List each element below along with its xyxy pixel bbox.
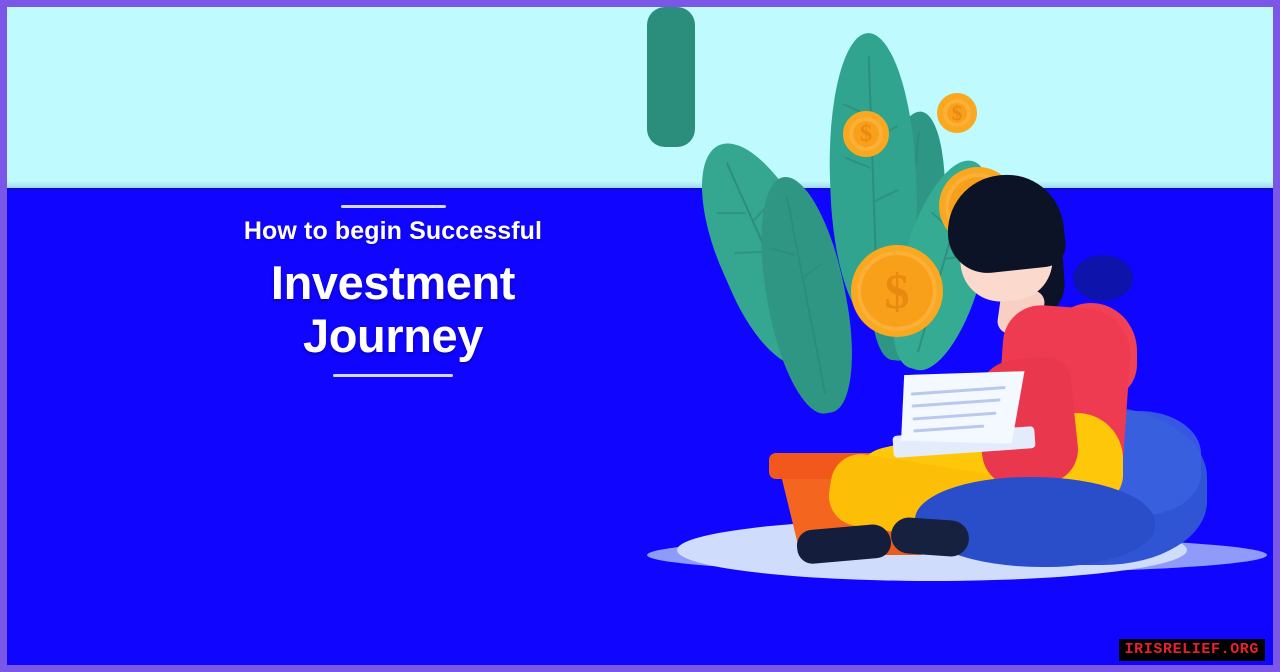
headline-line-1: Investment: [183, 258, 603, 309]
investment-illustration: $ $ $ $: [647, 7, 1273, 665]
leaf-rib: [875, 189, 899, 202]
coin-small-top: $: [937, 93, 977, 133]
leaf-vein: [786, 196, 826, 394]
rule-above-title: [341, 205, 446, 208]
leaf-rib: [734, 250, 763, 253]
coin-small-left: $: [843, 111, 889, 157]
dollar-sign-icon: $: [860, 122, 872, 146]
coin-large-front: $: [851, 245, 943, 337]
banner-canvas: How to begin Successful Investment Journ…: [7, 7, 1273, 665]
leaf-rib: [717, 212, 746, 214]
screen-text-line: [911, 399, 1001, 408]
watermark: IRISRELIEF.ORG: [1119, 639, 1265, 661]
person-shoe-back: [890, 516, 970, 557]
headline-block: How to begin Successful Investment Journ…: [183, 205, 603, 377]
screen-text-line: [911, 386, 1006, 396]
background-shadow-blob: [1073, 255, 1133, 301]
dollar-sign-icon: $: [952, 103, 963, 124]
headline-kicker: How to begin Successful: [183, 217, 603, 246]
headline-line-2: Journey: [183, 311, 603, 362]
laptop-screen: [897, 367, 1030, 452]
dollar-sign-icon: $: [885, 266, 910, 316]
leaf-rib: [803, 262, 823, 278]
screen-text-line: [912, 411, 996, 420]
plant-stalk: [647, 7, 695, 147]
leaf-rib: [844, 156, 870, 168]
screen-text-line: [913, 424, 985, 432]
rule-below-title: [333, 374, 453, 377]
leaf-rib: [771, 247, 796, 255]
investment-banner: How to begin Successful Investment Journ…: [0, 0, 1280, 672]
